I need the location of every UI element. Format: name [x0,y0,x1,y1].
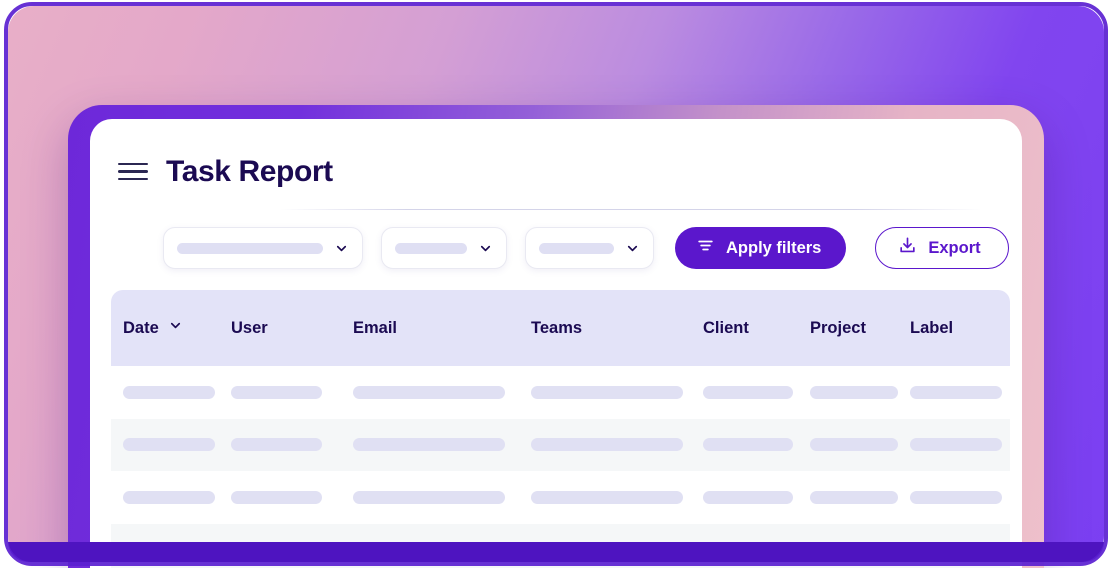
skeleton-bar [910,438,1002,451]
apply-filters-label: Apply filters [726,239,821,258]
skeleton-bar [910,491,1002,504]
column-header-project[interactable]: Project [798,319,898,338]
chevron-down-icon [614,241,640,256]
skeleton-bar [353,438,505,451]
skeleton-bar [231,438,322,451]
table-cell-client [691,491,798,504]
skeleton-bar [353,386,505,399]
skeleton-bar [123,386,215,399]
export-label: Export [928,239,980,258]
skeleton-bar [531,386,683,399]
table-cell-date [111,491,219,504]
skeleton-bar [703,491,793,504]
table-cell-teams [519,438,691,451]
column-header-label[interactable]: Label [898,319,1008,338]
filter-select-2-placeholder [395,243,467,254]
hamburger-line [118,170,148,172]
chevron-down-icon [323,241,349,256]
skeleton-bar [910,386,1002,399]
task-report-table: Date User Email Teams Client Project Lab… [111,290,1010,568]
table-cell-client [691,438,798,451]
table-row[interactable] [111,419,1010,472]
chevron-down-icon[interactable] [168,318,183,338]
column-header-date[interactable]: Date [111,318,219,338]
download-icon [898,236,917,260]
app-window: Task Report [90,119,1022,568]
table-cell-teams [519,386,691,399]
table-cell-date [111,386,219,399]
table-header-row: Date User Email Teams Client Project Lab… [111,290,1010,366]
table-cell-label [898,438,1008,451]
skeleton-bar [123,438,215,451]
filter-toolbar: Apply filters Export [90,210,1022,269]
screenshot-canvas: Task Report [0,0,1112,568]
table-cell-teams [519,491,691,504]
page-title: Task Report [166,157,333,187]
table-cell-project [798,491,898,504]
hamburger-line [118,178,148,180]
table-cell-project [798,438,898,451]
filter-select-3-placeholder [539,243,614,254]
column-header-email[interactable]: Email [341,319,519,338]
hamburger-menu-icon[interactable] [118,161,148,183]
filter-select-1[interactable] [163,227,363,269]
app-header: Task Report [90,119,1022,197]
table-row[interactable] [111,471,1010,524]
skeleton-bar [353,491,505,504]
table-cell-user [219,438,341,451]
table-cell-client [691,386,798,399]
table-cell-label [898,491,1008,504]
table-cell-email [341,386,519,399]
table-cell-label [898,386,1008,399]
hamburger-line [118,163,148,165]
skeleton-bar [531,438,683,451]
table-cell-email [341,491,519,504]
skeleton-bar [810,491,898,504]
table-cell-project [798,386,898,399]
skeleton-bar [810,386,898,399]
skeleton-bar [231,386,322,399]
table-cell-user [219,386,341,399]
apply-filters-button[interactable]: Apply filters [675,227,846,269]
export-button[interactable]: Export [875,227,1008,269]
column-header-teams[interactable]: Teams [519,319,691,338]
skeleton-bar [123,491,215,504]
filter-icon [696,236,715,260]
table-cell-email [341,438,519,451]
column-header-date-label: Date [123,319,159,338]
column-header-client[interactable]: Client [691,319,798,338]
chevron-down-icon [467,241,493,256]
table-row[interactable] [111,366,1010,419]
table-cell-date [111,438,219,451]
skeleton-bar [703,438,793,451]
skeleton-bar [703,386,793,399]
table-body [111,366,1010,568]
filter-select-3[interactable] [525,227,654,269]
bottom-crop-bar [8,542,1104,562]
filter-select-1-placeholder [177,243,323,254]
table-cell-user [219,491,341,504]
skeleton-bar [810,438,898,451]
column-header-user[interactable]: User [219,319,341,338]
skeleton-bar [231,491,322,504]
filter-select-2[interactable] [381,227,507,269]
skeleton-bar [531,491,683,504]
